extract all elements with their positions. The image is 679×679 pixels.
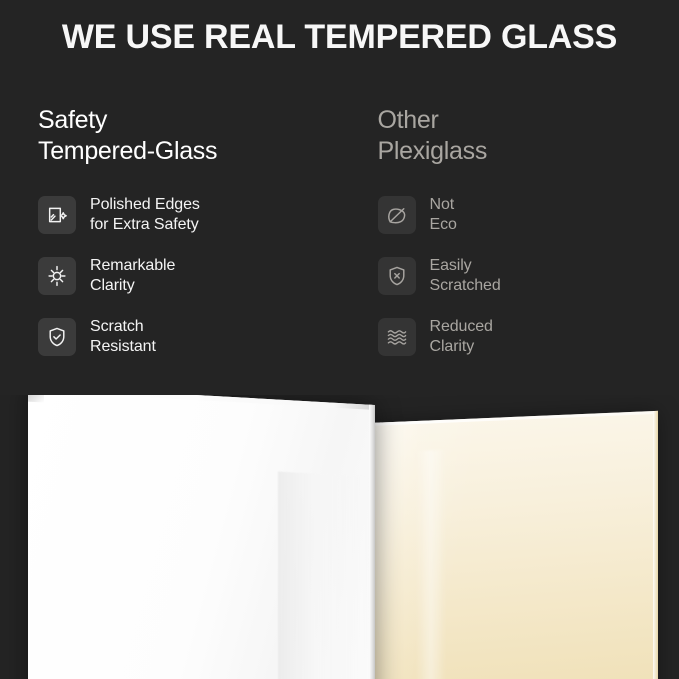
feature-remarkable-clarity: Remarkable Clarity xyxy=(38,256,340,296)
plexi-sheen xyxy=(416,450,446,679)
plexiglass-panel xyxy=(368,411,658,679)
column-plexiglass: Other Plexiglass Not Eco Easi xyxy=(340,105,679,405)
column-tempered-glass: Safety Tempered-Glass Polished Edges for… xyxy=(0,105,340,405)
comparison-columns: Safety Tempered-Glass Polished Edges for… xyxy=(0,105,679,405)
tempered-glass-panel xyxy=(28,395,375,679)
feature-polished-edges: Polished Edges for Extra Safety xyxy=(38,195,340,235)
feature-label: Scratch Resistant xyxy=(90,317,156,357)
feature-reduced-clarity: Reduced Clarity xyxy=(378,317,679,357)
glass-reflection xyxy=(278,472,374,679)
page-title: WE USE REAL TEMPERED GLASS xyxy=(0,18,679,57)
plexi-right-edge xyxy=(653,411,658,679)
feature-label: Polished Edges for Extra Safety xyxy=(90,195,200,235)
feature-label: Remarkable Clarity xyxy=(90,256,175,296)
wavy-lines-icon xyxy=(378,318,416,356)
polished-edge-sparkle-icon xyxy=(38,196,76,234)
column-title-tempered-glass: Safety Tempered-Glass xyxy=(38,105,340,167)
shield-check-icon xyxy=(38,318,76,356)
glass-right-edge xyxy=(369,405,375,679)
product-photo xyxy=(0,395,679,679)
feature-not-eco: Not Eco xyxy=(378,195,679,235)
feature-easily-scratched: Easily Scratched xyxy=(378,256,679,296)
glass-polished-top-edge xyxy=(28,395,375,410)
feature-scratch-resistant: Scratch Resistant xyxy=(38,317,340,357)
plexi-top-edge xyxy=(368,411,658,426)
product-comparison-infographic: WE USE REAL TEMPERED GLASS Safety Temper… xyxy=(0,0,679,679)
feature-label: Reduced Clarity xyxy=(430,317,493,357)
shield-x-icon xyxy=(378,257,416,295)
column-title-plexiglass: Other Plexiglass xyxy=(378,105,679,167)
leaf-crossed-out-icon xyxy=(378,196,416,234)
feature-label: Easily Scratched xyxy=(430,256,501,296)
feature-label: Not Eco xyxy=(430,195,457,235)
glass-corner-highlight xyxy=(28,395,44,402)
sun-brightness-icon xyxy=(38,257,76,295)
